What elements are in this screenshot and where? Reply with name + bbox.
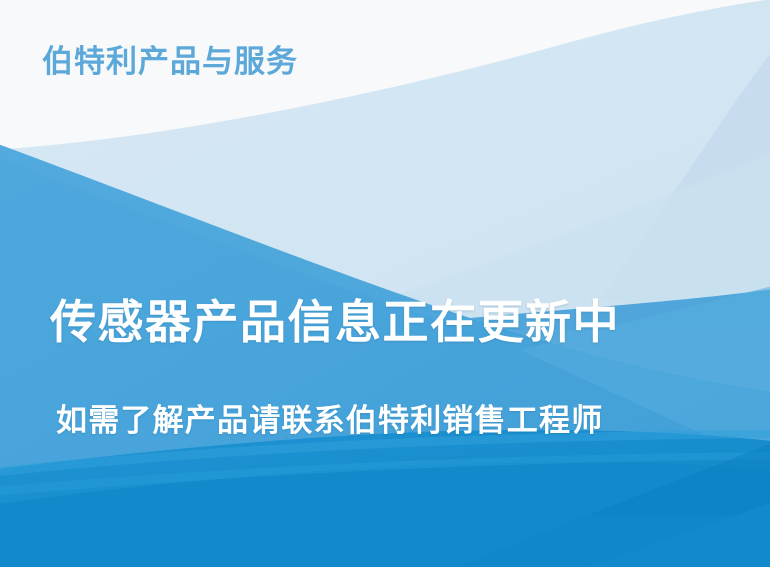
product-service-banner: 伯特利产品与服务 传感器产品信息正在更新中 如需了解产品请联系伯特利销售工程师 <box>0 0 770 567</box>
headline-text: 传感器产品信息正在更新中 <box>50 296 620 349</box>
background-wave-artwork <box>0 0 770 567</box>
subheadline-text: 如需了解产品请联系伯特利销售工程师 <box>56 403 603 440</box>
page-title: 伯特利产品与服务 <box>42 44 298 81</box>
